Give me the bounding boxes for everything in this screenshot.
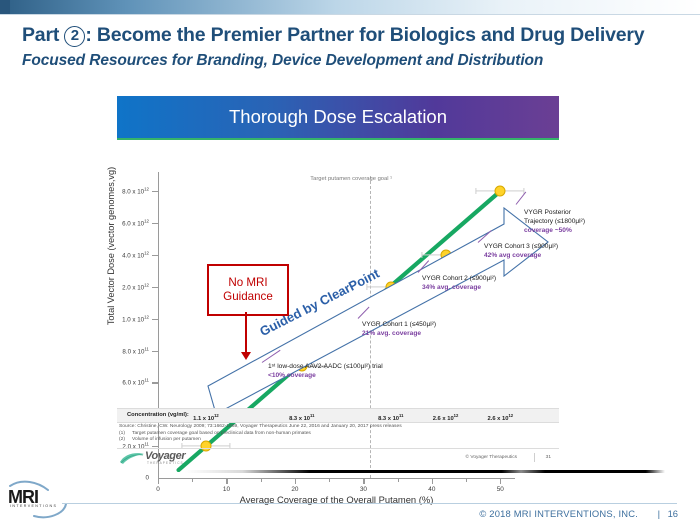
y-axis-tick-label: 4.0 x 1012 bbox=[122, 250, 149, 259]
x-axis-line bbox=[158, 478, 515, 479]
x-axis-tick-label: 0 bbox=[156, 486, 160, 493]
x-axis-tick bbox=[295, 478, 296, 484]
annotation-coverage: coverage ~50% bbox=[524, 227, 572, 234]
voyager-copyright: © Voyager Therapeutics bbox=[466, 455, 517, 460]
window-top-bar bbox=[0, 0, 700, 15]
y-axis-tick bbox=[152, 191, 158, 192]
no-mri-guidance-text: No MRI Guidance bbox=[209, 266, 287, 314]
y-axis-zero-label: 0 bbox=[146, 475, 149, 482]
x-axis-tick bbox=[363, 478, 364, 484]
title-prefix: Part bbox=[22, 24, 64, 46]
inner-footer-page-number: 31 bbox=[546, 455, 551, 460]
footer-page-number: 16 bbox=[668, 508, 678, 519]
y-axis-tick-label: 1.0 x 1012 bbox=[122, 314, 149, 323]
inner-footer: Voyager THERAPEUTICS © Voyager Therapeut… bbox=[117, 448, 559, 471]
source-notes: Source: Christine, CW. Neurology 2009; 7… bbox=[119, 424, 559, 444]
concentration-band: Concentration (vg/ml): 1.1 x 10128.3 x 1… bbox=[117, 408, 559, 423]
x-axis-tick-label: 30 bbox=[360, 486, 367, 493]
annotation-coverage: 42% avg coverage bbox=[484, 252, 541, 259]
chart-banner: Thorough Dose Escalation bbox=[117, 96, 559, 138]
y-axis-tick bbox=[152, 287, 158, 288]
annotation-coverage: <10% coverage bbox=[268, 372, 316, 379]
note-item: (2)Volume of infusion per putamen bbox=[119, 437, 559, 444]
annotation-line1: VYGR Posterior bbox=[524, 209, 571, 216]
chart-figure: Thorough Dose Escalation Total Vector Do… bbox=[112, 96, 564, 472]
no-mri-guidance-box: No MRI Guidance bbox=[207, 264, 289, 316]
y-axis-tick bbox=[152, 255, 158, 256]
top-bar-cap bbox=[0, 0, 10, 14]
chart-banner-underline bbox=[117, 138, 559, 140]
y-axis-tick-label: 8.0 x 1011 bbox=[122, 346, 149, 355]
note-number: (2) bbox=[119, 437, 132, 444]
concentration-value: 8.3 x 1011 bbox=[289, 409, 314, 422]
error-bar-cap bbox=[414, 284, 415, 290]
x-axis-tick-label: 50 bbox=[497, 486, 504, 493]
data-point[interactable] bbox=[440, 249, 451, 260]
annotation-leader-line bbox=[516, 192, 527, 205]
voyager-swoosh-icon bbox=[119, 452, 145, 465]
y-axis-tick-label: 8.0 x 1012 bbox=[122, 187, 149, 196]
annotation-line2: Trajectory (≤1800μl²) bbox=[524, 218, 585, 225]
annotation-cohort-3: VYGR Cohort 3 (≤900μl²)42% avg coverage bbox=[484, 242, 558, 260]
annotation-leader-line bbox=[478, 230, 492, 243]
no-mri-arrow-stem bbox=[245, 312, 247, 354]
y-axis-label: Total Vector Dose (vector genomes,vg) bbox=[106, 167, 116, 325]
data-point[interactable] bbox=[495, 186, 506, 197]
concentration-value: 8.3 x 1011 bbox=[378, 409, 403, 422]
annotation-coverage: 21% avg. coverage bbox=[362, 330, 421, 337]
x-axis-tick-label: 20 bbox=[291, 486, 298, 493]
x-axis-tick bbox=[500, 478, 501, 484]
annotation-line1: VYGR Cohort 3 (≤900μl²) bbox=[484, 243, 558, 250]
error-bar-cap bbox=[469, 252, 470, 258]
x-axis-tick bbox=[226, 478, 227, 484]
concentration-value: 2.6 x 1012 bbox=[433, 409, 459, 422]
y-axis-tick bbox=[152, 223, 158, 224]
note-items: (1)Target putamen coverage goal based on… bbox=[119, 431, 559, 444]
x-axis-minor-tick bbox=[329, 478, 330, 482]
inner-footer-separator bbox=[534, 453, 535, 462]
x-axis-minor-tick bbox=[466, 478, 467, 482]
data-point[interactable] bbox=[385, 281, 396, 292]
page-title: Part 2: Become the Premier Partner for B… bbox=[22, 24, 682, 47]
error-bar-cap bbox=[476, 188, 477, 194]
no-mri-line1: No MRI bbox=[228, 276, 267, 289]
y-axis-tick-label: 6.0 x 1011 bbox=[122, 378, 149, 387]
y-axis-tick-label: 2.0 x 1012 bbox=[122, 282, 149, 291]
voyager-logo-sub: THERAPEUTICS bbox=[147, 461, 184, 465]
y-axis-tick bbox=[152, 351, 158, 352]
concentration-value: 2.6 x 1012 bbox=[487, 409, 513, 422]
title-rest: : Become the Premier Partner for Biologi… bbox=[85, 24, 644, 46]
y-axis-tick-label: 6.0 x 1012 bbox=[122, 218, 149, 227]
annotation-line1: 1ˢᵗ low-dose AAV2-AADC (≤100μl²) trial bbox=[268, 363, 383, 370]
annotation-leader-line bbox=[262, 350, 281, 363]
concentration-value: 1.1 x 1012 bbox=[193, 409, 219, 422]
annotation-line1: VYGR Cohort 2 (≤900μl²) bbox=[422, 275, 496, 282]
note-text: Volume of infusion per putamen bbox=[132, 437, 201, 444]
mri-brand-sub: INTERVENTIONS bbox=[10, 504, 57, 508]
y-axis-tick bbox=[152, 319, 158, 320]
annotation-cohort-2: VYGR Cohort 2 (≤900μl²)34% avg. coverage bbox=[422, 274, 496, 292]
annotation-leader-line bbox=[418, 260, 429, 273]
annotation-low-dose-trial: 1ˢᵗ low-dose AAV2-AADC (≤100μl²) trial<1… bbox=[268, 362, 383, 380]
annotation-line1: VYGR Cohort 1 (≤450μl²) bbox=[362, 321, 436, 328]
target-coverage-label: Target putamen coverage goal ¹ bbox=[310, 176, 392, 182]
error-bar-cap bbox=[421, 252, 422, 258]
page-subtitle: Focused Resources for Branding, Device D… bbox=[22, 52, 682, 70]
annotation-posterior-trajectory: VYGR PosteriorTrajectory (≤1800μl²)cover… bbox=[524, 208, 585, 236]
x-axis-tick-label: 40 bbox=[428, 486, 435, 493]
y-axis-tick bbox=[152, 382, 158, 383]
decorative-rule bbox=[185, 470, 665, 473]
x-axis-tick bbox=[158, 478, 159, 484]
x-axis-minor-tick bbox=[261, 478, 262, 482]
x-axis-tick-label: 10 bbox=[223, 486, 230, 493]
concentration-label: Concentration (vg/ml): bbox=[127, 409, 189, 422]
footer-separator: | bbox=[658, 508, 660, 519]
annotation-leader-line bbox=[358, 307, 370, 319]
no-mri-line2: Guidance bbox=[223, 290, 273, 303]
x-axis-minor-tick bbox=[398, 478, 399, 482]
no-mri-arrow-head bbox=[241, 352, 251, 360]
title-badge: 2 bbox=[64, 26, 85, 47]
x-axis-tick bbox=[432, 478, 433, 484]
annotation-cohort-1: VYGR Cohort 1 (≤450μl²)21% avg. coverage bbox=[362, 320, 436, 338]
footer-copyright: © 2018 MRI INTERVENTIONS, INC. bbox=[479, 508, 638, 519]
chart-banner-title: Thorough Dose Escalation bbox=[117, 96, 559, 138]
note-source: Source: Christine, CW. Neurology 2009; 7… bbox=[119, 424, 559, 431]
footer-rule bbox=[62, 503, 677, 504]
x-axis-minor-tick bbox=[192, 478, 193, 482]
annotation-coverage: 34% avg. coverage bbox=[422, 284, 481, 291]
